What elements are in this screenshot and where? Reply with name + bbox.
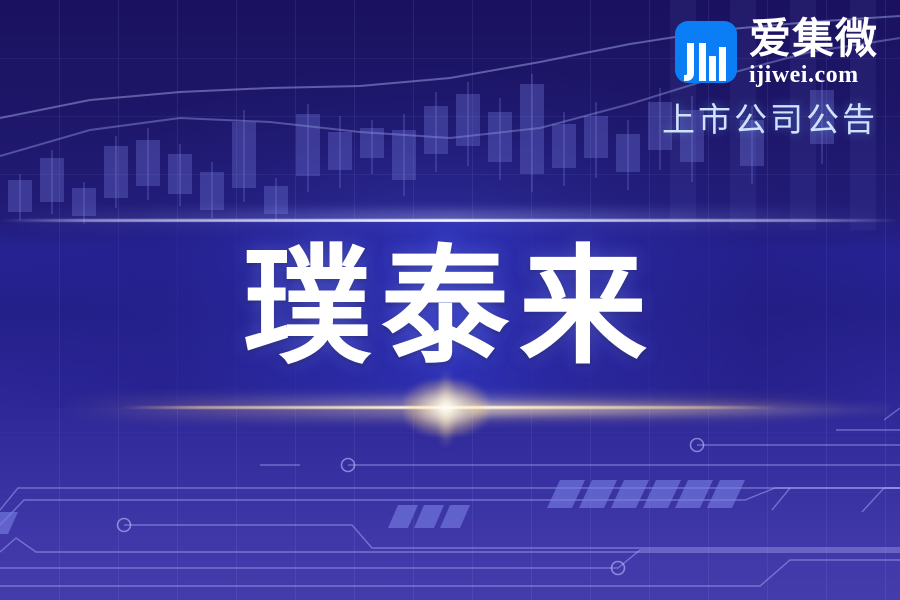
candle-body: [584, 116, 608, 158]
candle-wick: [371, 120, 373, 174]
candle-body: [232, 122, 256, 188]
page-title: 璞泰来: [0, 228, 900, 388]
candle-body: [424, 106, 448, 154]
candle-wick: [595, 102, 597, 178]
candle-body: [360, 128, 384, 158]
candle-body: [8, 180, 32, 212]
candle-wick: [403, 114, 405, 196]
candle-body: [200, 172, 224, 210]
candle-body: [392, 130, 416, 180]
candle-body: [296, 114, 320, 176]
candle-wick: [147, 128, 149, 200]
candle-wick: [563, 112, 565, 186]
bar-chart-logo-icon[interactable]: [675, 21, 737, 83]
flare-core: [404, 380, 488, 436]
candle-body: [456, 94, 480, 146]
candle-wick: [179, 144, 181, 206]
candle-wick: [307, 104, 309, 192]
candle-body: [104, 146, 128, 198]
chart-divider-streak: [0, 219, 900, 222]
candle-body: [328, 132, 352, 170]
candle-wick: [115, 136, 117, 208]
candle-wick: [243, 110, 245, 202]
candle-wick: [467, 82, 469, 166]
announcement-banner: 璞泰来: [0, 0, 900, 600]
candle-body: [40, 158, 64, 202]
candle-wick: [51, 150, 53, 214]
candle-body: [136, 140, 160, 186]
candle-wick: [499, 98, 501, 180]
brand-block: 爱集微 ijiwei.com 上市公司公告: [662, 18, 878, 136]
candle-wick: [531, 74, 533, 192]
candle-wick: [627, 120, 629, 190]
candle-wick: [659, 88, 661, 170]
candle-body: [488, 112, 512, 162]
candle-wick: [339, 116, 341, 188]
candle-wick: [435, 92, 437, 172]
brand-domain: ijiwei.com: [749, 63, 859, 87]
candle-body: [616, 134, 640, 172]
candle-body: [552, 124, 576, 168]
candle-body: [520, 84, 544, 174]
brand-name-cn: 爱集微: [749, 18, 878, 61]
candle-body: [168, 154, 192, 194]
brand-subtitle: 上市公司公告: [662, 103, 878, 136]
